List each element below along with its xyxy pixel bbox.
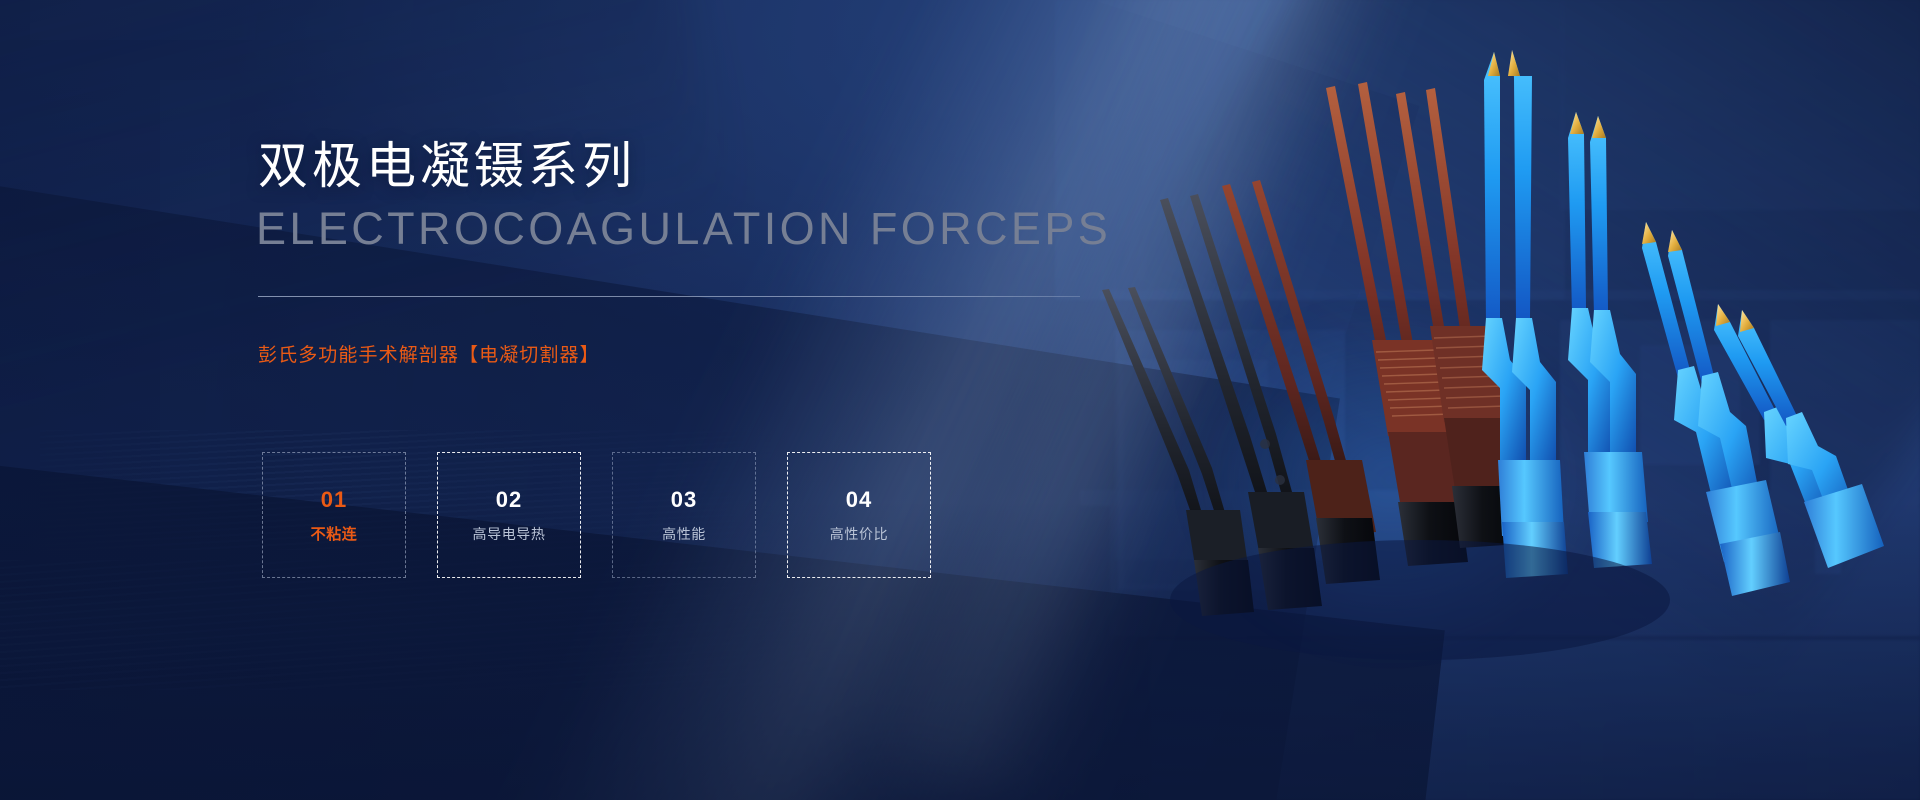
feature-label: 高性能 — [662, 527, 706, 541]
product-hero-banner: 双极电凝镊系列 ELECTROCOAGULATION FORCEPS 彭氏多功能… — [0, 0, 1920, 800]
background-chair — [1150, 720, 1241, 800]
page-subtitle-english: ELECTROCOAGULATION FORCEPS — [256, 204, 1111, 254]
feature-box-02[interactable]: 02 高导电导热 — [437, 452, 581, 578]
feature-number: 03 — [671, 489, 697, 511]
background-chair — [1716, 720, 1807, 800]
background-chair — [1263, 720, 1354, 800]
feature-box-03[interactable]: 03 高性能 — [612, 452, 756, 578]
banner-text-content: 双极电凝镊系列 ELECTROCOAGULATION FORCEPS 彭氏多功能… — [258, 0, 1158, 800]
page-title: 双极电凝镊系列 — [258, 138, 636, 194]
feature-label: 高导电导热 — [473, 527, 546, 541]
feature-list: 01 不粘连 02 高导电导热 03 高性能 04 高性价比 — [262, 452, 931, 578]
background-chair — [1376, 720, 1467, 800]
feature-number: 02 — [496, 489, 522, 511]
feature-label: 高性价比 — [830, 527, 888, 541]
background-chair — [1489, 720, 1580, 800]
background-chair — [1603, 720, 1694, 800]
feature-label: 不粘连 — [311, 527, 358, 542]
background-chair — [1829, 720, 1920, 800]
feature-box-01[interactable]: 01 不粘连 — [262, 452, 406, 578]
product-tagline: 彭氏多功能手术解剖器【电凝切割器】 — [258, 340, 600, 367]
feature-number: 01 — [321, 489, 347, 511]
feature-box-04[interactable]: 04 高性价比 — [787, 452, 931, 578]
title-divider — [258, 296, 1080, 297]
feature-number: 04 — [846, 489, 872, 511]
